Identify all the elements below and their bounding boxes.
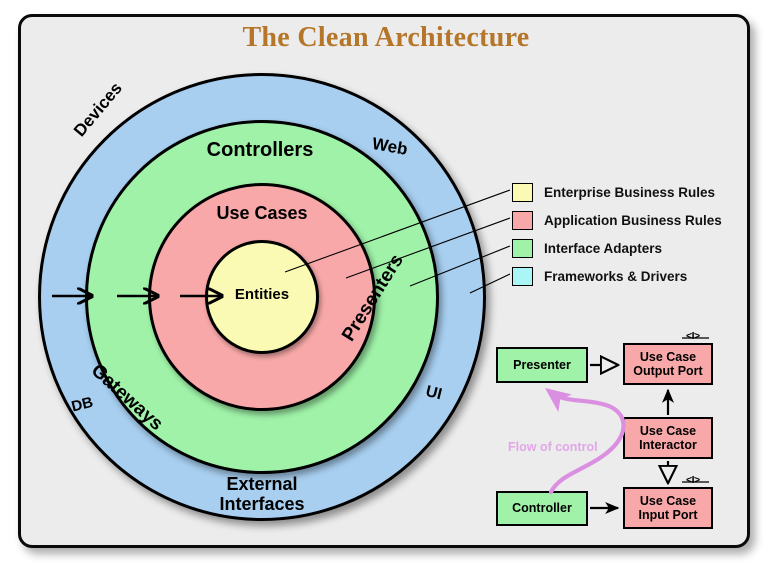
color-swatch-icon [512,183,533,202]
flow-box-presenter: Presenter [496,347,588,383]
legend-label: Interface Adapters [544,241,662,256]
flow-of-control-label: Flow of control [508,440,598,454]
flow-box-line2: Input Port [638,508,697,523]
flow-box-use-case-output-port: Use Case Output Port [623,343,713,385]
flow-box-line1: Use Case [639,424,697,439]
flow-box-line2: Output Port [633,364,702,379]
ring-enterprise-business-rules [205,240,319,354]
legend-label: Application Business Rules [544,213,722,228]
legend-item-interface-adapters: Interface Adapters [512,236,722,261]
color-swatch-icon [512,211,533,230]
flow-box-use-case-input-port: Use Case Input Port [623,487,713,529]
legend-item-application-business-rules: Application Business Rules [512,208,722,233]
legend-label: Enterprise Business Rules [544,185,715,200]
diagram-canvas: The Clean Architecture Controllers Use C… [0,0,772,567]
flow-box-use-case-interactor: Use Case Interactor [623,417,713,459]
legend: Enterprise Business Rules Application Bu… [512,180,722,292]
legend-label: Frameworks & Drivers [544,269,687,284]
flow-box-line2: Interactor [639,438,697,453]
color-swatch-icon [512,267,533,286]
legend-item-frameworks-and-drivers: Frameworks & Drivers [512,264,722,289]
interface-marker-output-port: <I> [686,330,700,342]
legend-item-enterprise-business-rules: Enterprise Business Rules [512,180,722,205]
flow-box-controller: Controller [496,491,588,526]
color-swatch-icon [512,239,533,258]
flow-box-line1: Use Case [633,350,702,365]
flow-box-line1: Use Case [638,494,697,509]
page-title: The Clean Architecture [0,22,772,54]
interface-marker-input-port: <I> [686,474,700,486]
